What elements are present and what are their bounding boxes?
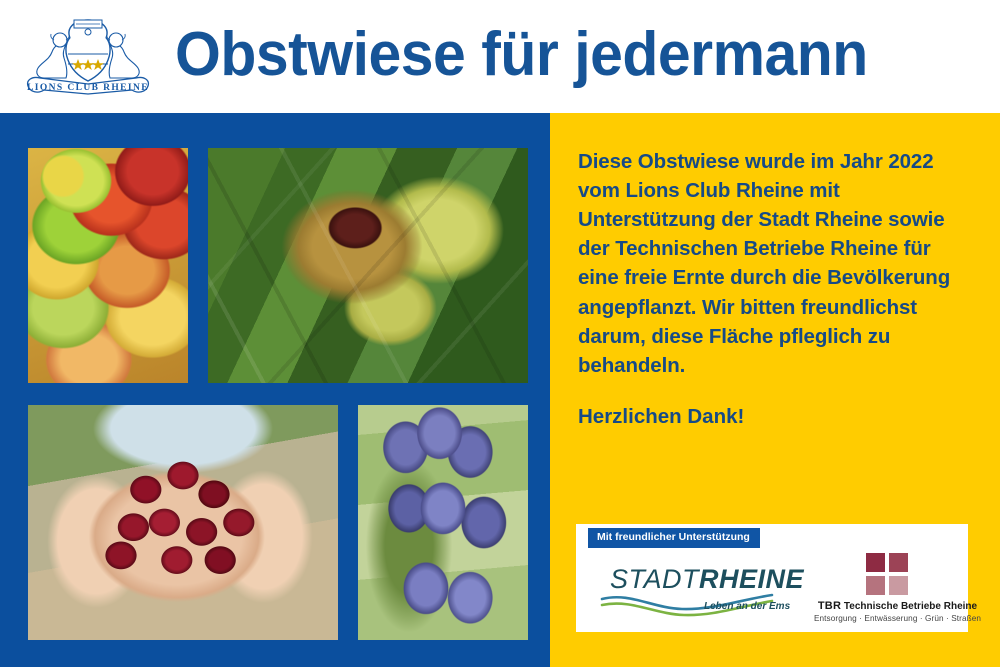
tbr-square-1 [866,553,885,572]
plums-photo [358,405,528,640]
sponsor-box: Mit freundlicher Unterstützung STADTRHEI… [576,524,968,632]
photo-cherries [28,405,338,640]
apples-photo [28,148,188,383]
info-paragraph: Diese Obstwiese wurde im Jahr 2022 vom L… [578,147,956,380]
photo-chestnut [208,148,528,383]
lions-club-logo: LIONS CLUB RHEINE [0,0,175,113]
tbr-square-2 [889,553,908,572]
tbr-squares-icon [866,553,908,595]
sponsor-logo-row: STADTRHEINE Leben an der Ems TBR [576,550,968,632]
sponsor-banner-label: Mit freundlicher Unterstützung [588,528,760,548]
tbr-tagline: Entsorgung · Entwässerung · Grün · Straß… [810,614,985,623]
tbr-square-4 [889,576,908,595]
tbr-name: TBR Technische Betriebe Rheine [810,600,985,612]
chestnut-leaf-veins [208,148,528,383]
chestnut-photo [208,148,528,383]
lions-banner-text: LIONS CLUB RHEINE [27,83,149,93]
tbr-full-name: Technische Betriebe Rheine [844,601,977,612]
tbr-square-3 [866,576,885,595]
cherries-photo [28,405,338,640]
stadt-rheine-wordmark: STADTRHEINE [610,566,804,593]
page-title: Obstwiese für jedermann [175,24,959,90]
poster-header: LIONS CLUB RHEINE Obstwiese für jederman… [0,0,1000,113]
thanks-line: Herzlichen Dank! [578,402,744,431]
stadt-rheine-claim: Leben an der Ems [704,601,790,612]
poster-root: LIONS CLUB RHEINE Obstwiese für jederman… [0,0,1000,667]
lions-club-crest-icon: LIONS CLUB RHEINE [18,14,158,100]
stadt-rheine-logo: STADTRHEINE Leben an der Ems [592,556,792,626]
tbr-logo: TBR Technische Betriebe Rheine Entsorgun… [810,553,985,629]
tbr-abbr: TBR [818,600,841,612]
photo-apples [28,148,188,383]
photo-plums [358,405,528,640]
